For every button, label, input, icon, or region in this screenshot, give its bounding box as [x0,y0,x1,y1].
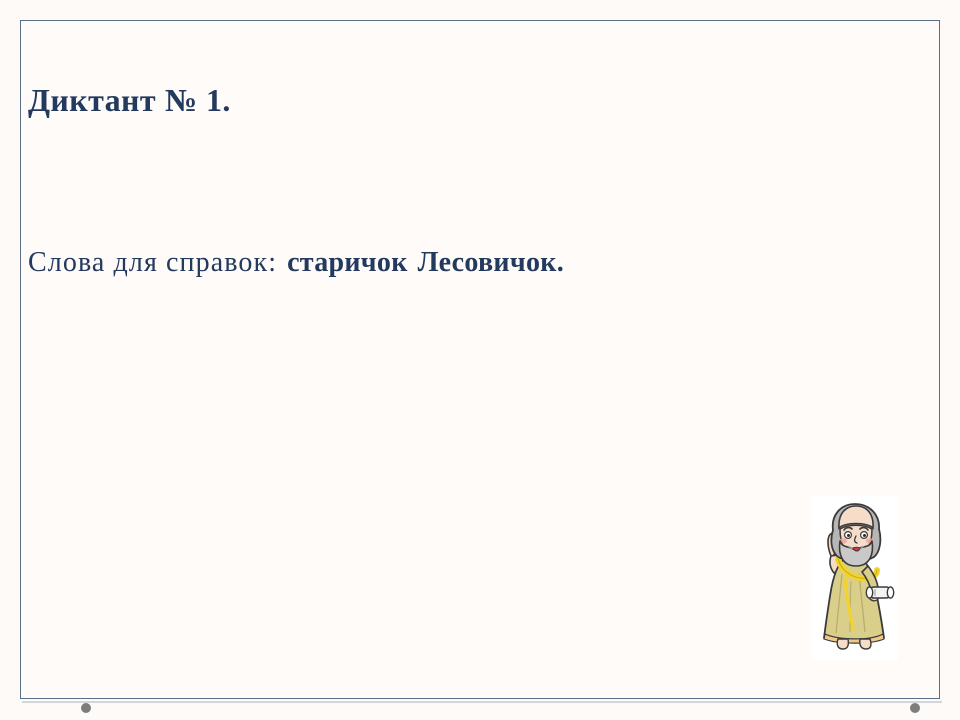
title-word: Диктант [28,82,156,118]
slide: Диктант№ 1. Слова для справок:старичокЛе… [0,0,960,720]
title-number-sign: № [165,82,198,118]
reference-words-label: Слова для справок: [28,247,277,278]
slide-content-area: Диктант№ 1. Слова для справок:старичокЛе… [22,22,938,697]
title-number: 1. [206,82,231,118]
reference-word-first: старичок [287,247,408,278]
greek-philosopher-icon [812,496,898,660]
decorative-dot-left [81,703,91,713]
decorative-dot-right [910,703,920,713]
slide-title: Диктант№ 1. [28,82,231,119]
reference-word-second: Лесовичок. [418,247,564,278]
slide-frame-shadow [22,701,942,703]
reference-words-line: Слова для справок:старичокЛесовичок. [28,247,564,279]
